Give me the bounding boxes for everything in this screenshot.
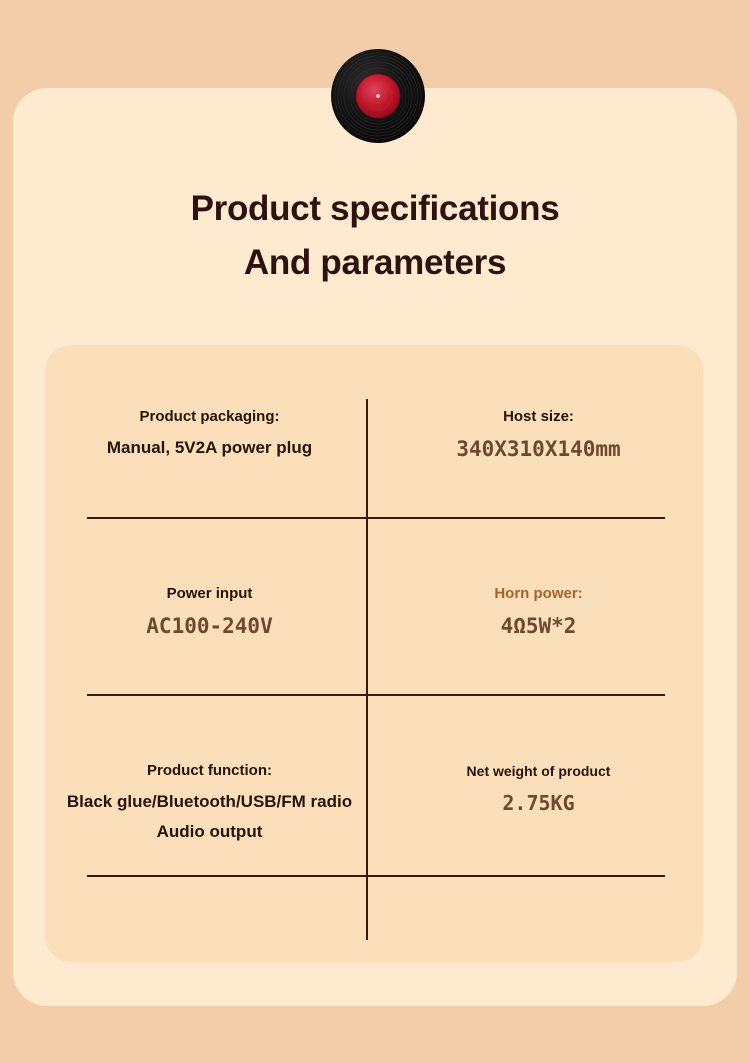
spec-value: 4Ω5W*2	[374, 613, 703, 639]
spec-cell-power-input: Power input AC100-240V	[45, 584, 374, 639]
row-divider-1	[87, 517, 665, 519]
row-divider-3	[87, 875, 665, 877]
spec-value: 340X310X140mm	[374, 436, 703, 462]
spec-value: Manual, 5V2A power plug	[45, 435, 374, 461]
page-title-line2: And parameters	[0, 236, 750, 290]
spec-table: Product packaging: Manual, 5V2A power pl…	[45, 345, 703, 962]
spec-cell-net-weight: Net weight of product 2.75KG	[374, 761, 703, 816]
spec-label: Product function:	[45, 761, 374, 781]
spec-cell-product-function: Product function: Black glue/Bluetooth/U…	[45, 761, 374, 845]
spec-cell-horn-power: Horn power: 4Ω5W*2	[374, 584, 703, 639]
column-divider	[366, 399, 368, 940]
spec-label: Net weight of product	[374, 761, 703, 781]
spec-value: Black glue/Bluetooth/USB/FM radio	[45, 789, 374, 815]
row-divider-2	[87, 694, 665, 696]
spec-label: Product packaging:	[45, 407, 374, 427]
spec-value: 2.75KG	[374, 790, 703, 816]
spec-value-line2: Audio output	[45, 819, 374, 845]
page-title: Product specifications And parameters	[0, 182, 750, 290]
spec-label: Horn power:	[374, 584, 703, 604]
spec-cell-product-packaging: Product packaging: Manual, 5V2A power pl…	[45, 407, 374, 461]
spec-label: Host size:	[374, 407, 703, 427]
vinyl-record-icon	[330, 48, 426, 144]
spec-cell-host-size: Host size: 340X310X140mm	[374, 407, 703, 462]
spec-value: AC100-240V	[45, 613, 374, 639]
spec-label: Power input	[45, 584, 374, 604]
page-title-line1: Product specifications	[191, 189, 560, 228]
